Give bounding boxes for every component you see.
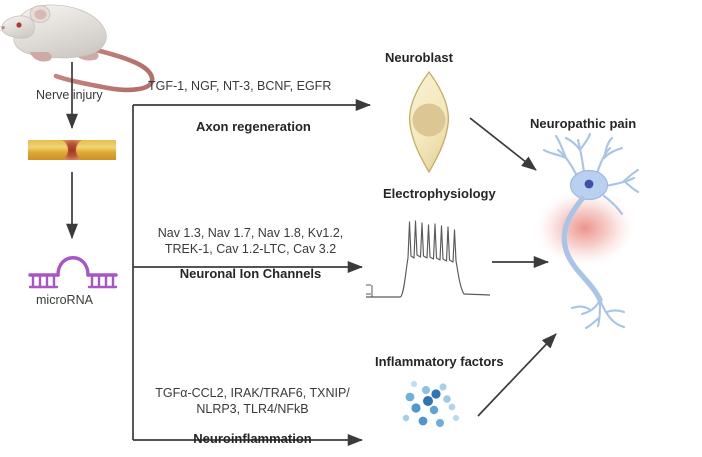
neuroinflammation-molecules-line1: TGFα-CCL2, IRAK/TRAF6, TXNIP/: [140, 386, 365, 401]
neuroinflammation-process-label: Neuroinflammation: [140, 431, 365, 447]
cytokine-dot-cluster-icon: [403, 381, 459, 427]
injured-nerve-icon: [28, 140, 116, 160]
axon-regeneration-molecules: TGF-1, NGF, NT-3, BCNF, EGFR: [148, 79, 331, 94]
arrow-inflammation-to-pain: [478, 334, 556, 416]
microrna-label: microRNA: [36, 293, 93, 308]
action-potential-trace-icon: [366, 221, 490, 297]
ion-channels-molecules-line2: TREK-1, Cav 1.2-LTC, Cav 3.2: [143, 242, 358, 257]
sensitized-neuron-icon: [533, 134, 638, 328]
mouse-icon: [0, 5, 152, 90]
ion-channels-molecules-line1: Nav 1.3, Nav 1.7, Nav 1.8, Kv1.2,: [143, 226, 358, 241]
electrophysiology-label: Electrophysiology: [383, 186, 496, 202]
neuropathic-pain-label: Neuropathic pain: [530, 116, 636, 132]
axon-regeneration-process-label: Axon regeneration: [196, 119, 311, 135]
neuroblast-cell-icon: [410, 72, 449, 172]
nerve-injury-label: Nerve injury: [36, 88, 103, 103]
inflammatory-factors-label: Inflammatory factors: [375, 354, 504, 370]
ion-channels-process-label: Neuronal Ion Channels: [143, 266, 358, 282]
arrow-neuroblast-to-pain: [470, 118, 536, 170]
diagram-canvas: Nerve injury microRNA TGF-1, NGF, NT-3, …: [0, 0, 702, 457]
neuroblast-label: Neuroblast: [385, 50, 453, 66]
microrna-hairpin-icon: [30, 258, 116, 287]
neuroinflammation-molecules-line2: NLRP3, TLR4/NFkB: [140, 402, 365, 417]
